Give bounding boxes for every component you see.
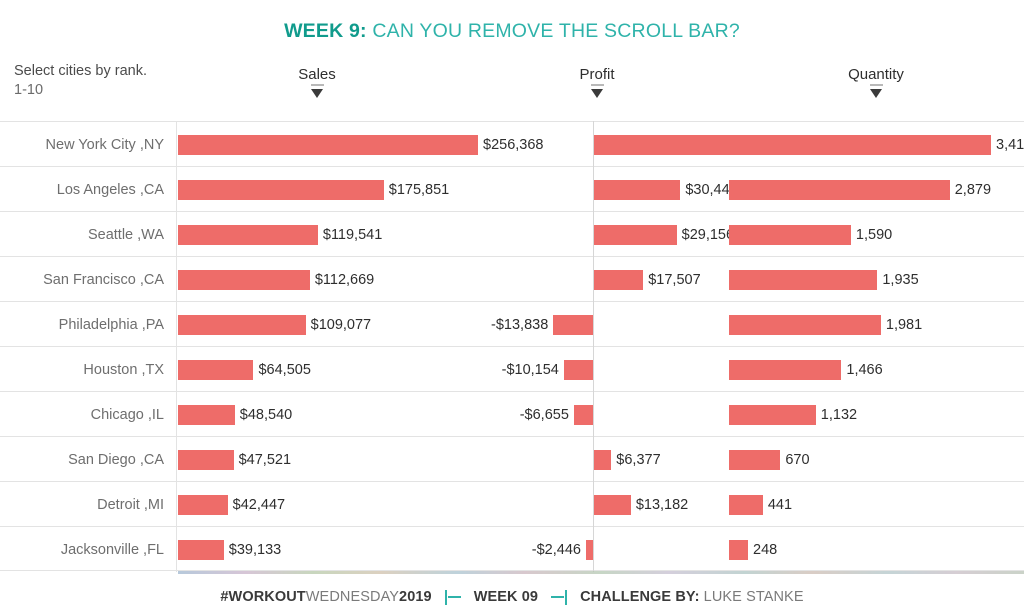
table-row[interactable]: Philadelphia ,PA$109,077-$13,8381,981 [0,301,1024,346]
row-label-city[interactable]: San Diego ,CA [0,437,170,482]
footer-week-label: WEEK 09 [474,589,538,605]
bar-profit[interactable] [593,180,680,200]
value-label-quantity: 1,590 [856,225,892,245]
value-label-quantity: 2,879 [955,180,991,200]
sort-descending-triangle-icon-quantity[interactable] [870,89,882,98]
value-label-profit: -$2,446 [415,540,581,560]
value-label-quantity: 1,981 [886,315,922,335]
table-row[interactable]: Houston ,TX$64,505-$10,1541,466 [0,346,1024,391]
cell-profit: $29,156 [415,212,727,257]
column-header-quantity-label: Quantity [816,66,936,84]
table-row[interactable]: Detroit ,MI$42,447$13,182441 [0,481,1024,526]
table-row[interactable]: New York City ,NY$256,368$62,0373,417 [0,121,1024,166]
sort-descending-triangle-icon-cap-profit [591,84,604,86]
table-row[interactable]: San Francisco ,CA$112,669$17,5071,935 [0,256,1024,301]
value-label-quantity: 670 [785,450,809,470]
footer-hashtag-part3: 2019 [399,589,432,605]
cell-quantity: 1,935 [729,257,1024,302]
footer-challenge: CHALLENGE BY: LUKE STANKE [580,589,804,605]
bar-profit[interactable] [593,495,631,515]
column-header-profit[interactable]: Profit [537,66,657,98]
cell-profit: $30,441 [415,167,727,212]
value-label-sales: $64,505 [258,360,310,380]
page-title-week: WEEK 9: [284,20,367,42]
value-label-sales: $109,077 [311,315,371,335]
cell-quantity: 3,417 [729,122,1024,167]
bar-quantity[interactable] [729,225,851,245]
cell-profit: -$13,838 [415,302,727,347]
column-header-sales[interactable]: Sales [257,66,377,98]
bar-quantity[interactable] [729,360,841,380]
row-label-city[interactable]: Houston ,TX [0,347,170,392]
cell-quantity: 441 [729,482,1024,527]
row-label-city[interactable]: Jacksonville ,FL [0,527,170,572]
table-row[interactable]: Jacksonville ,FL$39,133-$2,446248 [0,526,1024,571]
cell-quantity: 670 [729,437,1024,482]
bar-sales[interactable] [178,315,306,335]
bar-sales[interactable] [178,450,234,470]
column-header-sales-label: Sales [257,66,377,84]
bar-profit[interactable] [593,270,643,290]
value-label-quantity: 248 [753,540,777,560]
footer-hashtag-part2: WEDNESDAY [306,589,399,605]
value-label-profit: -$10,154 [415,360,559,380]
footer-challenge-author: LUKE STANKE [700,589,804,605]
footer-hashtag: #WORKOUTWEDNESDAY2019 [220,589,431,605]
value-label-profit: -$13,838 [415,315,548,335]
value-label-sales: $47,521 [239,450,291,470]
select-cities-label: Select cities by rank. 1-10 [14,62,194,100]
bar-quantity[interactable] [729,315,881,335]
footer: #WORKOUTWEDNESDAY2019 WEEK 09 CHALLENGE … [0,580,1024,614]
table-row[interactable]: San Diego ,CA$47,521$6,377670 [0,436,1024,481]
bar-profit[interactable] [564,360,593,380]
page-title: WEEK 9: CAN YOU REMOVE THE SCROLL BAR? [0,20,1024,43]
header-zone: Select cities by rank. 1-10 Sales Profit… [0,60,1024,112]
profit-zero-axis-line [593,121,594,572]
bar-sales[interactable] [178,540,224,560]
sort-descending-triangle-icon-sales[interactable] [311,89,323,98]
bar-quantity[interactable] [729,450,780,470]
row-label-city[interactable]: Philadelphia ,PA [0,302,170,347]
table-row[interactable]: Seattle ,WA$119,541$29,1561,590 [0,211,1024,256]
value-label-profit: $6,377 [616,450,660,470]
row-label-city[interactable]: Detroit ,MI [0,482,170,527]
cell-quantity: 2,879 [729,167,1024,212]
bar-sales[interactable] [178,360,253,380]
bar-quantity[interactable] [729,270,877,290]
bar-profit[interactable] [593,225,677,245]
city-metrics-table: New York City ,NY$256,368$62,0373,417Los… [0,121,1024,571]
page-title-question: CAN YOU REMOVE THE SCROLL BAR? [367,20,740,42]
bar-sales[interactable] [178,180,384,200]
cell-profit: -$2,446 [415,527,727,572]
bar-profit[interactable] [586,540,593,560]
cell-quantity: 1,590 [729,212,1024,257]
bar-sales[interactable] [178,270,310,290]
value-label-profit: -$6,655 [415,405,569,425]
footer-hashtag-part1: #WORKOUT [220,589,305,605]
sort-descending-triangle-icon-cap-quantity [870,84,883,86]
value-label-sales: $42,447 [233,495,285,515]
bracket-right-icon [551,590,567,605]
sort-descending-triangle-icon-profit[interactable] [591,89,603,98]
bracket-left-icon [445,590,461,605]
bar-profit[interactable] [593,450,611,470]
column-header-quantity[interactable]: Quantity [816,66,936,98]
cell-profit: $13,182 [415,482,727,527]
row-label-city[interactable]: Chicago ,IL [0,392,170,437]
cell-profit: $6,377 [415,437,727,482]
cell-quantity: 1,981 [729,302,1024,347]
cell-quantity: 1,132 [729,392,1024,437]
bar-quantity[interactable] [729,405,816,425]
value-label-quantity: 441 [768,495,792,515]
value-label-sales: $112,669 [315,270,374,290]
cell-profit: $62,037 [415,122,727,167]
value-label-quantity: 1,466 [846,360,882,380]
value-label-sales: $48,540 [240,405,292,425]
value-label-profit: $29,156 [682,225,734,245]
bar-quantity[interactable] [729,135,991,155]
value-label-sales: $119,541 [323,225,382,245]
select-cities-label-line1: Select cities by rank. [14,62,194,81]
sort-descending-triangle-icon-cap-sales [311,84,324,86]
value-label-sales: $39,133 [229,540,281,560]
select-cities-range: 1-10 [14,81,194,100]
bar-sales[interactable] [178,405,235,425]
value-label-profit: $13,182 [636,495,688,515]
bar-quantity[interactable] [729,540,748,560]
row-label-city[interactable]: Los Angeles ,CA [0,167,170,212]
bar-quantity[interactable] [729,495,763,515]
bar-sales[interactable] [178,225,318,245]
table-row[interactable]: Chicago ,IL$48,540-$6,6551,132 [0,391,1024,436]
cell-quantity: 1,466 [729,347,1024,392]
horizontal-scrollbar[interactable] [178,571,1024,574]
value-label-profit: $17,507 [648,270,700,290]
dashboard-root: WEEK 9: CAN YOU REMOVE THE SCROLL BAR? S… [0,0,1024,614]
cell-quantity: 248 [729,527,1024,572]
cell-profit: -$10,154 [415,347,727,392]
bar-profit[interactable] [553,315,593,335]
value-label-quantity: 1,935 [882,270,918,290]
cell-profit: -$6,655 [415,392,727,437]
row-label-city[interactable]: Seattle ,WA [0,212,170,257]
value-label-quantity: 3,417 [996,135,1024,155]
cell-profit: $17,507 [415,257,727,302]
footer-challenge-prefix: CHALLENGE BY: [580,589,699,605]
table-row[interactable]: Los Angeles ,CA$175,851$30,4412,879 [0,166,1024,211]
value-label-quantity: 1,132 [821,405,857,425]
bar-quantity[interactable] [729,180,950,200]
label-column-divider [176,121,177,572]
row-label-city[interactable]: New York City ,NY [0,122,170,167]
bar-profit[interactable] [574,405,593,425]
column-header-profit-label: Profit [537,66,657,84]
bar-sales[interactable] [178,495,228,515]
row-label-city[interactable]: San Francisco ,CA [0,257,170,302]
